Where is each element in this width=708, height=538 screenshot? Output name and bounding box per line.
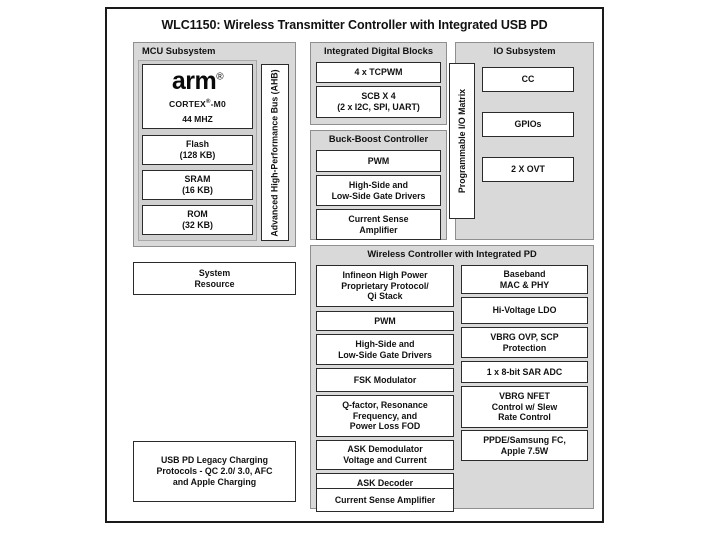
baseband-mac-phy-label: Baseband MAC & PHY: [500, 269, 549, 290]
baseband-mac-phy-block: Baseband MAC & PHY: [461, 265, 588, 294]
wireless-pwm-label: PWM: [374, 316, 396, 327]
ask-demodulator-block: ASK Demodulator Voltage and Current: [316, 440, 454, 470]
cc-block: CC: [482, 67, 574, 92]
vbrg-ovp-scp-label: VBRG OVP, SCP Protection: [490, 332, 558, 353]
arm-registered-mark: ®: [216, 72, 223, 83]
tcpwm-label: 4 x TCPWM: [355, 67, 403, 78]
gpios-label: GPIOs: [515, 119, 542, 130]
flash-label: Flash (128 KB): [180, 139, 216, 160]
buck-boost-gate-drivers-block: High-Side and Low-Side Gate Drivers: [316, 175, 441, 206]
wireless-current-sense-amplifier-block: Current Sense Amplifier: [316, 488, 454, 512]
ask-demodulator-label: ASK Demodulator Voltage and Current: [343, 444, 426, 465]
q-factor-fod-label: Q-factor, Resonance Frequency, and Power…: [342, 400, 428, 432]
system-resource-label: System Resource: [194, 268, 234, 289]
fsk-modulator-label: FSK Modulator: [354, 375, 417, 386]
buck-boost-pwm-block: PWM: [316, 150, 441, 172]
wireless-gate-drivers-block: High-Side and Low-Side Gate Drivers: [316, 334, 454, 365]
ahb-bus-label: Advanced High-Performance Bus (AHB): [270, 69, 280, 236]
sar-adc-label: 1 x 8-bit SAR ADC: [487, 367, 562, 378]
hi-voltage-ldo-block: Hi-Voltage LDO: [461, 297, 588, 324]
ovt-label: 2 X OVT: [511, 164, 545, 175]
wireless-current-sense-amplifier-label: Current Sense Amplifier: [335, 495, 435, 506]
flash-block: Flash (128 KB): [142, 135, 253, 165]
clock-speed-label: 44 MHZ: [182, 114, 213, 124]
page-title: WLC1150: Wireless Transmitter Controller…: [107, 9, 602, 32]
buck-boost-current-sense-label: Current Sense Amplifier: [348, 214, 408, 235]
ppde-samsung-apple-label: PPDE/Samsung FC, Apple 7.5W: [483, 435, 566, 456]
infineon-qi-stack-block: Infineon High Power Proprietary Protocol…: [316, 265, 454, 307]
arm-logo: arm®: [172, 69, 223, 94]
vbrg-nfet-control-label: VBRG NFET Control w/ Slew Rate Control: [492, 391, 558, 423]
arm-cortex-m0-block: arm® CORTEX®-M0 44 MHZ: [142, 64, 253, 129]
wireless-gate-drivers-label: High-Side and Low-Side Gate Drivers: [338, 339, 432, 360]
io-subsystem-title: IO Subsystem: [456, 43, 593, 58]
q-factor-fod-block: Q-factor, Resonance Frequency, and Power…: [316, 395, 454, 437]
programmable-io-matrix-block: Programmable I/O Matrix: [449, 63, 475, 219]
programmable-io-matrix-label: Programmable I/O Matrix: [457, 89, 467, 193]
infineon-qi-stack-label: Infineon High Power Proprietary Protocol…: [341, 270, 429, 302]
usb-pd-legacy-charging-label: USB PD Legacy Charging Protocols - QC 2.…: [156, 455, 272, 487]
cortex-label: CORTEX®-M0: [169, 99, 226, 109]
scb-block: SCB X 4 (2 x I2C, SPI, UART): [316, 86, 441, 118]
block-diagram-root: WLC1150: Wireless Transmitter Controller…: [105, 7, 604, 523]
buck-boost-current-sense-block: Current Sense Amplifier: [316, 209, 441, 240]
ovt-block: 2 X OVT: [482, 157, 574, 182]
vbrg-nfet-control-block: VBRG NFET Control w/ Slew Rate Control: [461, 386, 588, 428]
tcpwm-block: 4 x TCPWM: [316, 62, 441, 83]
system-resource-block: System Resource: [133, 262, 296, 295]
buck-boost-gate-drivers-label: High-Side and Low-Side Gate Drivers: [332, 180, 426, 201]
wireless-pwm-block: PWM: [316, 311, 454, 331]
sar-adc-block: 1 x 8-bit SAR ADC: [461, 361, 588, 383]
vbrg-ovp-scp-block: VBRG OVP, SCP Protection: [461, 327, 588, 358]
buck-boost-pwm-label: PWM: [368, 156, 390, 167]
mcu-subsystem-title: MCU Subsystem: [134, 43, 295, 58]
rom-label: ROM (32 KB): [182, 209, 213, 230]
fsk-modulator-block: FSK Modulator: [316, 368, 454, 392]
scb-label: SCB X 4 (2 x I2C, SPI, UART): [337, 91, 420, 112]
integrated-digital-blocks-title: Integrated Digital Blocks: [311, 43, 446, 58]
hi-voltage-ldo-label: Hi-Voltage LDO: [493, 305, 557, 316]
sram-block: SRAM (16 KB): [142, 170, 253, 200]
wireless-controller-title: Wireless Controller with Integrated PD: [311, 246, 593, 261]
buck-boost-controller-title: Buck-Boost Controller: [311, 131, 446, 146]
ahb-bus-block: Advanced High-Performance Bus (AHB): [261, 64, 289, 241]
ppde-samsung-apple-block: PPDE/Samsung FC, Apple 7.5W: [461, 430, 588, 461]
rom-block: ROM (32 KB): [142, 205, 253, 235]
gpios-block: GPIOs: [482, 112, 574, 137]
usb-pd-legacy-charging-block: USB PD Legacy Charging Protocols - QC 2.…: [133, 441, 296, 502]
cc-label: CC: [522, 74, 535, 85]
sram-label: SRAM (16 KB): [182, 174, 213, 195]
